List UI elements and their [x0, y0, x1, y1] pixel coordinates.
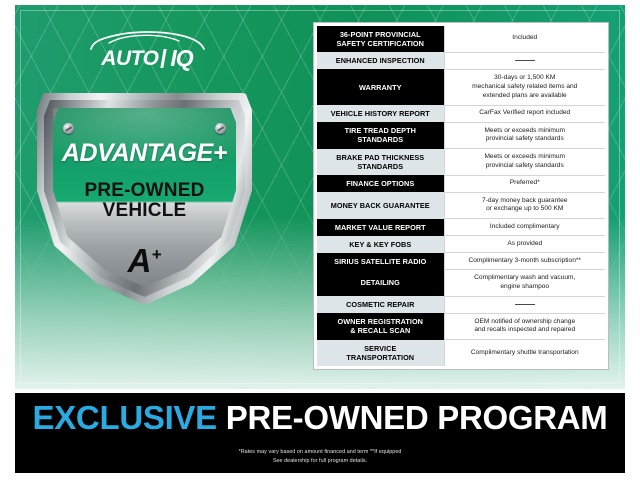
advantage-title: ADVANTAGE+	[37, 139, 252, 168]
table-row: OWNER REGISTRATION& RECALL SCANOEM notif…	[317, 313, 605, 340]
feature-value-cell: Complimentary shuttle transportation	[444, 340, 605, 366]
feature-value-cell: As provided	[444, 236, 605, 253]
table-row: FINANCE OPTIONSPreferred*	[317, 175, 605, 192]
banner-title-highlight: EXCLUSIVE	[33, 399, 217, 436]
feature-value-cell: Meets or exceeds minimumprovincial safet…	[444, 122, 605, 149]
em-dash-icon	[515, 60, 535, 61]
badge-subtitle-line2: VEHICLE	[37, 201, 252, 221]
feature-label-cell: OWNER REGISTRATION& RECALL SCAN	[317, 313, 444, 340]
feature-value-cell: Included complimentary	[444, 219, 605, 236]
feature-label-cell: FINANCE OPTIONS	[317, 175, 444, 192]
logo-auto-text: AUTO	[101, 48, 158, 69]
feature-label-cell: COSMETIC REPAIR	[317, 296, 444, 313]
logo-divider-bar	[161, 49, 167, 68]
table-row: VEHICLE HISTORY REPORTCarFax Verified re…	[317, 105, 605, 122]
feature-value-cell: 7-day money back guaranteeor exchange up…	[444, 192, 605, 219]
feature-value-cell	[444, 52, 605, 69]
feature-value-cell: Meets or exceeds minimumprovincial safet…	[444, 149, 605, 176]
badge-subtitle-line1: PRE-OWNED	[37, 181, 252, 201]
table-row: WARRANTY30-days or 1,500 KMmechanical sa…	[317, 69, 605, 105]
feature-label-cell: 36-POINT PROVINCIALSAFETY CERTIFICATION	[317, 26, 444, 52]
autoiq-logo: AUTO IQ	[62, 22, 232, 70]
a-plus-grade: A+	[37, 244, 252, 277]
table-row: COSMETIC REPAIR	[317, 296, 605, 313]
table-row: MARKET VALUE REPORTIncluded complimentar…	[317, 219, 605, 236]
table-row: MONEY BACK GUARANTEE7-day money back gua…	[317, 192, 605, 219]
feature-label-cell: SERVICETRANSPORTATION	[317, 340, 444, 366]
feature-label-cell: MONEY BACK GUARANTEE	[317, 192, 444, 219]
logo-wordmark: AUTO IQ	[101, 47, 192, 70]
feature-label-cell: KEY & KEY FOBS	[317, 236, 444, 253]
feature-value-cell: CarFax Verified report included	[444, 105, 605, 122]
banner-title-rest: PRE-OWNED PROGRAM	[226, 399, 608, 436]
feature-label-cell: BRAKE PAD THICKNESSSTANDARDS	[317, 149, 444, 176]
feature-label-cell: DETAILING	[317, 270, 444, 297]
table-row: 36-POINT PROVINCIALSAFETY CERTIFICATIONI…	[317, 26, 605, 52]
feature-label-cell: ENHANCED INSPECTION	[317, 52, 444, 69]
feature-value-cell: Complimentary 3-month subscription**	[444, 253, 605, 270]
a-plus-superscript: +	[151, 245, 161, 264]
features-table-card: 36-POINT PROVINCIALSAFETY CERTIFICATIONI…	[313, 22, 609, 370]
advantage-shield-badge: ADVANTAGE+ PRE-OWNED VEHICLE A+	[37, 93, 252, 305]
poster-root: AUTO IQ ADVANTAGE+ PRE-OWNED VEHICLE A+ …	[0, 0, 640, 480]
shield-screw-right-icon	[215, 123, 226, 134]
table-row: DETAILINGComplimentary wash and vacuum,e…	[317, 270, 605, 297]
table-row: SERVICETRANSPORTATIONComplimentary shutt…	[317, 340, 605, 366]
feature-label-cell: SIRIUS SATELLITE RADIO	[317, 253, 444, 270]
shield-text-block: ADVANTAGE+ PRE-OWNED VEHICLE	[37, 139, 252, 221]
fine-print-line-1: *Rates may vary based on amount financed…	[239, 448, 402, 456]
feature-value-cell	[444, 296, 605, 313]
shield-screw-left-icon	[63, 123, 74, 134]
feature-label-cell: WARRANTY	[317, 69, 444, 105]
table-row: SIRIUS SATELLITE RADIOComplimentary 3-mo…	[317, 253, 605, 270]
badge-subtitle: PRE-OWNED VEHICLE	[37, 181, 252, 221]
a-plus-letter: A	[128, 242, 152, 279]
feature-label-cell: MARKET VALUE REPORT	[317, 219, 444, 236]
table-row: TIRE TREAD DEPTHSTANDARDSMeets or exceed…	[317, 122, 605, 149]
feature-value-cell: OEM notified of ownership changeand reca…	[444, 313, 605, 340]
feature-label-cell: TIRE TREAD DEPTHSTANDARDS	[317, 122, 444, 149]
banner-fine-print: *Rates may vary based on amount financed…	[239, 448, 402, 465]
feature-label-cell: VEHICLE HISTORY REPORT	[317, 105, 444, 122]
feature-value-cell: Preferred*	[444, 175, 605, 192]
table-row: KEY & KEY FOBSAs provided	[317, 236, 605, 253]
banner-title: EXCLUSIVE PRE-OWNED PROGRAM	[33, 401, 608, 434]
bottom-banner: EXCLUSIVE PRE-OWNED PROGRAM *Rates may v…	[15, 393, 625, 473]
table-row: BRAKE PAD THICKNESSSTANDARDSMeets or exc…	[317, 149, 605, 176]
feature-value-cell: 30-days or 1,500 KMmechanical safety rel…	[444, 69, 605, 105]
feature-value-cell: Included	[444, 26, 605, 52]
fine-print-line-2: See dealership for full program details.	[239, 457, 402, 465]
logo-iq-text: IQ	[170, 47, 192, 70]
em-dash-icon	[515, 304, 535, 305]
features-table: 36-POINT PROVINCIALSAFETY CERTIFICATIONI…	[317, 26, 605, 366]
feature-value-cell: Complimentary wash and vacuum,engine sha…	[444, 270, 605, 297]
table-row: ENHANCED INSPECTION	[317, 52, 605, 69]
features-table-body: 36-POINT PROVINCIALSAFETY CERTIFICATIONI…	[317, 26, 605, 366]
